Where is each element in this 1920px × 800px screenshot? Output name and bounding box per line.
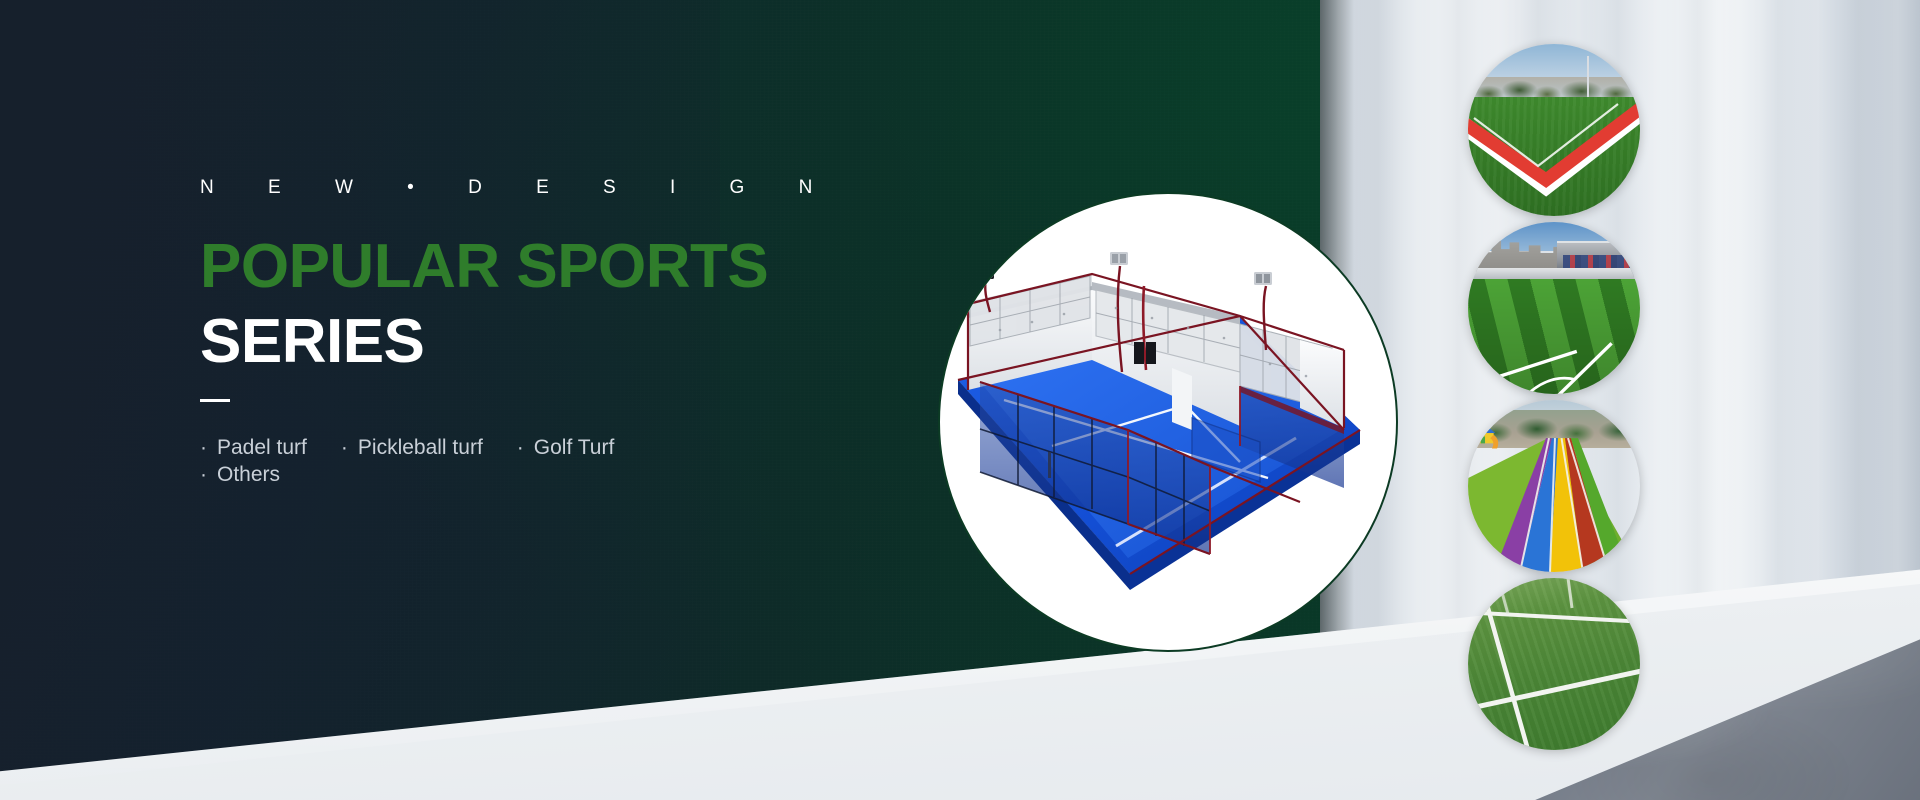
thumbnail-rainbow-turf[interactable]	[1468, 400, 1640, 572]
page-title-primary: POPULAR SPORTS	[200, 235, 960, 298]
list-item[interactable]: ·Others	[200, 461, 280, 488]
padel-court-3d-icon	[940, 194, 1398, 652]
eyebrow-label: N E W • D E S I G N	[200, 178, 960, 197]
list-item[interactable]: ·Pickleball turf	[341, 434, 483, 461]
title-divider	[200, 399, 230, 402]
bullet-dot-icon: ·	[200, 434, 207, 461]
list-item[interactable]: ·Golf Turf	[517, 434, 615, 461]
thumbnail-hockey-field[interactable]	[1468, 44, 1640, 216]
headline-block: N E W • D E S I G N POPULAR SPORTS SERIE…	[200, 178, 960, 488]
hero-banner: N E W • D E S I G N POPULAR SPORTS SERIE…	[0, 0, 1920, 800]
stadium-seats	[1563, 255, 1640, 269]
bullet-dot-icon: ·	[341, 434, 348, 461]
bullet-dot-icon: ·	[200, 461, 207, 488]
list-item-label: Pickleball turf	[358, 436, 483, 459]
football-stadium-turf-image	[1468, 222, 1640, 394]
rainbow-turf-lanes	[1468, 438, 1640, 572]
bullet-dot-icon: ·	[517, 434, 524, 461]
pitch-line-markings	[1468, 279, 1640, 394]
product-list: ·Padel turf·Pickleball turf·Golf Turf·Ot…	[200, 434, 760, 488]
pitch-perimeter-wall	[1468, 268, 1640, 278]
rainbow-playground-turf-image	[1468, 400, 1640, 572]
court-line-markings	[1468, 578, 1640, 750]
hero-product-circle[interactable]	[938, 192, 1398, 652]
thumbnail-football-stadium[interactable]	[1468, 222, 1640, 394]
list-item-label: Golf Turf	[534, 436, 615, 459]
thumbnail-tennis-court[interactable]	[1468, 578, 1640, 750]
tennis-court-grass-image	[1468, 578, 1640, 750]
red-chevron-marking	[1468, 44, 1640, 216]
list-item-label: Others	[217, 463, 280, 486]
page-title-secondary: SERIES	[200, 310, 960, 373]
hockey-field-red-chevron-image	[1468, 44, 1640, 216]
list-item-label: Padel turf	[217, 436, 307, 459]
list-item[interactable]: ·Padel turf	[200, 434, 307, 461]
padel-court-image	[940, 194, 1398, 652]
